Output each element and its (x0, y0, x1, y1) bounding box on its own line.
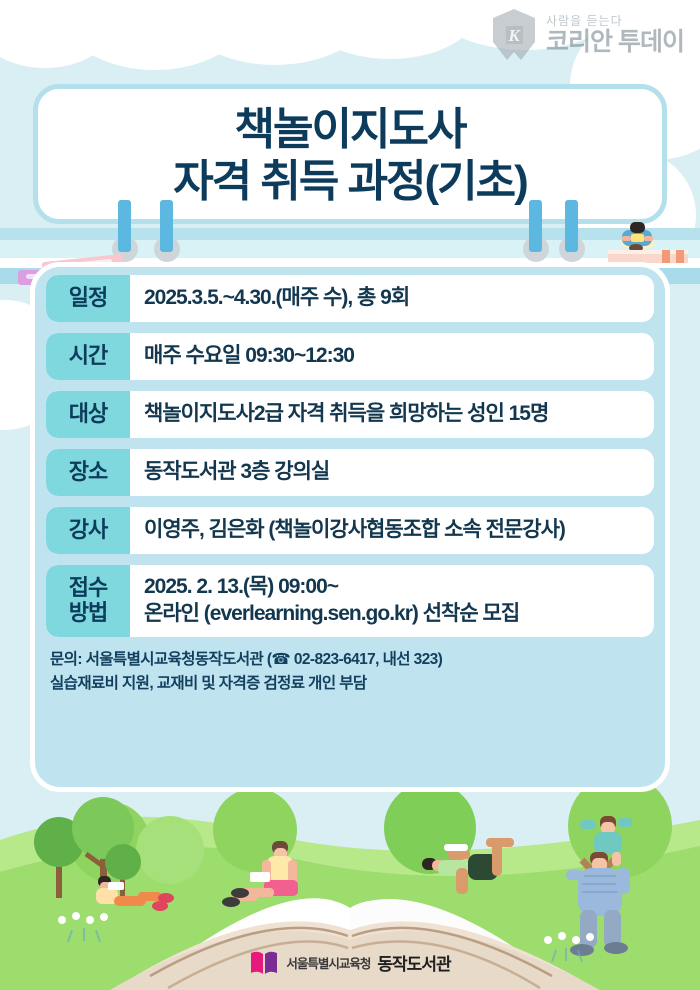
row-label-place: 장소 (46, 449, 130, 496)
row-label-text-2: 방법 (69, 601, 107, 626)
row-value-place: 동작도서관 3층 강의실 (130, 449, 654, 496)
row-value-time: 매주 수요일 09:30~12:30 (130, 333, 654, 380)
info-row-time: 시간 매주 수요일 09:30~12:30 (46, 333, 654, 380)
logo-library-name: 동작도서관 (377, 950, 450, 975)
title-line-1: 책놀이지도사 (235, 104, 466, 156)
row-label-text: 일정 (69, 286, 107, 311)
info-row-registration: 접수 방법 2025. 2. 13.(목) 09:00~ 온라인 (everle… (46, 565, 654, 637)
info-row-instructor: 강사 이영주, 김은화 (책놀이강사협동조합 소속 전문강사) (46, 507, 654, 554)
info-row-target: 대상 책놀이지도사2급 자격 취득을 희망하는 성인 15명 (46, 391, 654, 438)
row-label-schedule: 일정 (46, 275, 130, 322)
info-rows: 일정 2025.3.5.~4.30.(매주 수), 총 9회 시간 매주 수요일… (46, 275, 654, 696)
watermark-tagline: 사람을 듣는다 (546, 15, 623, 27)
row-value-instructor: 이영주, 김은화 (책놀이강사협동조합 소속 전문강사) (130, 507, 654, 554)
footnotes: 문의: 서울특별시교육청동작도서관 (☎ 02-823-6417, 내선 323… (46, 648, 654, 696)
shield-k-icon: K (490, 8, 538, 62)
footnote-contact: 문의: 서울특별시교육청동작도서관 (☎ 02-823-6417, 내선 323… (50, 648, 654, 672)
row-label-text: 시간 (69, 344, 107, 369)
page-title: 책놀이지도사 자격 취득 과정(기초) (0, 86, 700, 226)
row-label-text: 접수 (69, 576, 107, 601)
poster-root: K 사람을 듣는다 코리안 투데이 책놀이지도사 자격 취득 과정(기초) (0, 0, 700, 990)
title-line-2: 자격 취득 과정(기초) (173, 156, 527, 208)
row-value-line: 책놀이지도사2급 자격 취득을 희망하는 성인 15명 (144, 401, 644, 428)
library-logo: 서울특별시교육청 동작도서관 (0, 948, 700, 976)
row-value-line: 매주 수요일 09:30~12:30 (144, 343, 644, 370)
row-label-text: 장소 (69, 460, 107, 485)
book-logo-icon (249, 948, 279, 976)
row-value-line: 동작도서관 3층 강의실 (144, 459, 644, 486)
info-row-schedule: 일정 2025.3.5.~4.30.(매주 수), 총 9회 (46, 275, 654, 322)
row-label-time: 시간 (46, 333, 130, 380)
row-value-line: 이영주, 김은화 (책놀이강사협동조합 소속 전문강사) (144, 517, 644, 544)
row-label-registration: 접수 방법 (46, 565, 130, 637)
svg-text:K: K (507, 26, 521, 45)
row-label-text: 강사 (69, 518, 107, 543)
watermark-brand: 코리안 투데이 (546, 30, 684, 55)
watermark-logo: K 사람을 듣는다 코리안 투데이 (490, 8, 684, 62)
watermark-text: 사람을 듣는다 코리안 투데이 (546, 15, 684, 55)
info-row-place: 장소 동작도서관 3층 강의실 (46, 449, 654, 496)
row-value-line: 2025.3.5.~4.30.(매주 수), 총 9회 (144, 285, 644, 312)
row-value-registration: 2025. 2. 13.(목) 09:00~ 온라인 (everlearning… (130, 565, 654, 637)
row-value-line: 2025. 2. 13.(목) 09:00~ (144, 574, 644, 601)
row-value-line-2: 온라인 (everlearning.sen.go.kr) 선착순 모집 (144, 601, 644, 628)
row-label-instructor: 강사 (46, 507, 130, 554)
footnote-fees: 실습재료비 지원, 교재비 및 자격증 검정료 개인 부담 (50, 672, 654, 696)
row-value-target: 책놀이지도사2급 자격 취득을 희망하는 성인 15명 (130, 391, 654, 438)
row-value-schedule: 2025.3.5.~4.30.(매주 수), 총 9회 (130, 275, 654, 322)
logo-org-name: 서울특별시교육청 (286, 953, 370, 972)
row-label-target: 대상 (46, 391, 130, 438)
row-label-text: 대상 (69, 402, 107, 427)
